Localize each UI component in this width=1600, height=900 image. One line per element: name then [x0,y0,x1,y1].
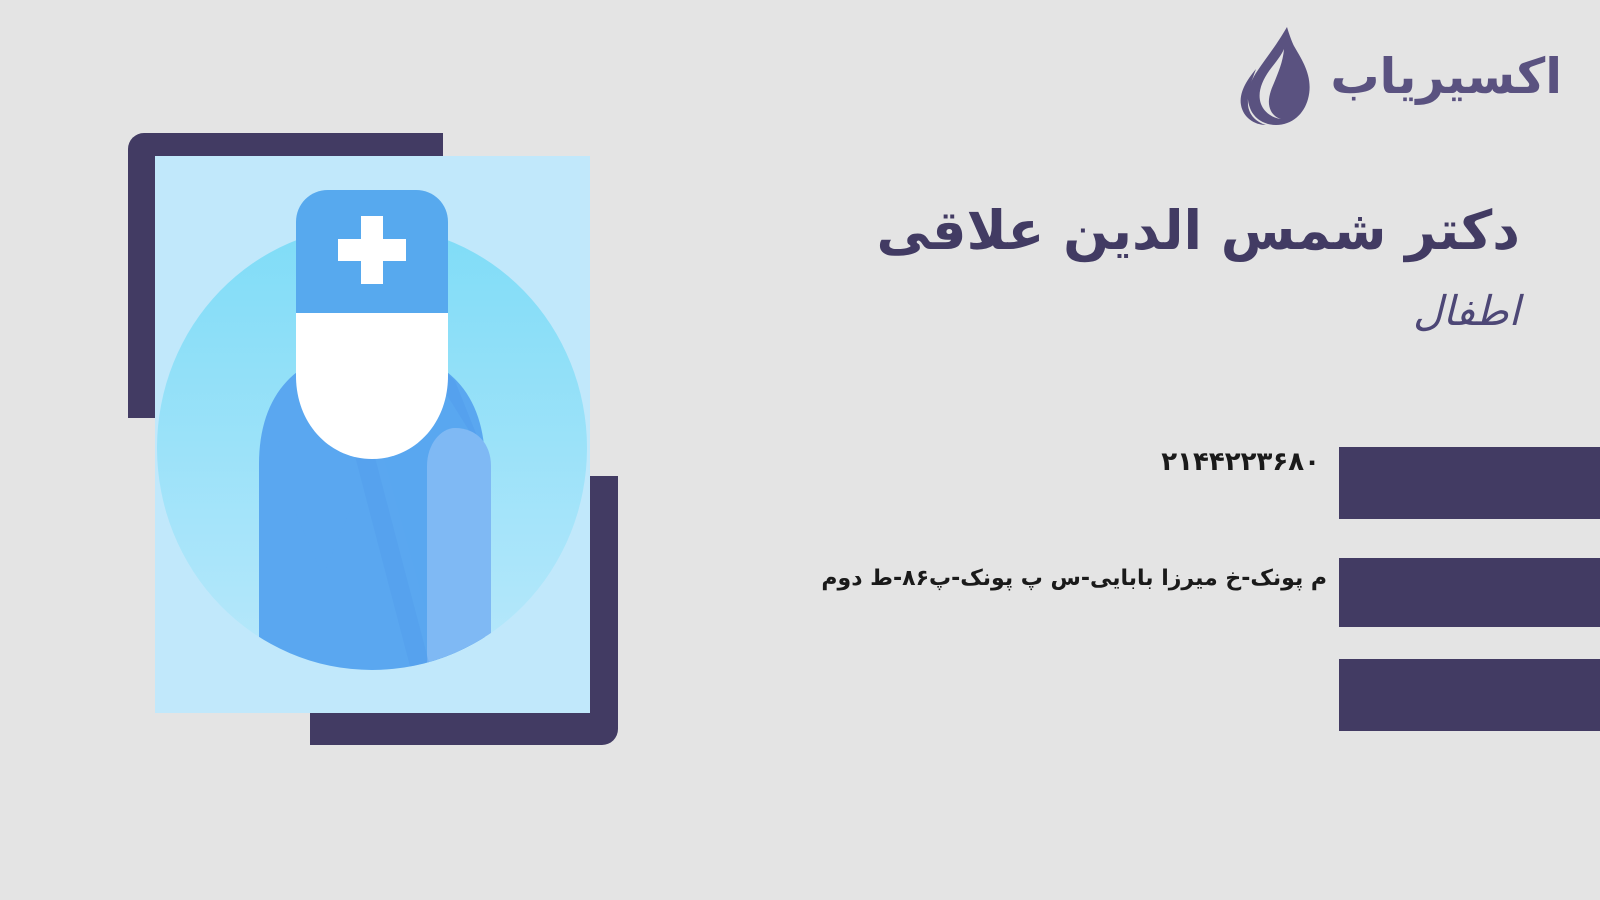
clinic-address: م پونک-خ میرزا بابایی-س پ پونک-پ۸۶-ط دوم [821,566,1327,591]
illustration-photo [155,156,590,713]
avatar-sleeve [427,428,491,713]
doctor-profile-card: اکسیریاب [0,0,1600,900]
doctor-info: دکتر شمس الدین علاقی اطفال [750,196,1520,336]
phone-number[interactable]: ۲۱۴۴۲۲۳۶۸۰ [1161,447,1320,477]
flame-droplet-icon [1232,26,1316,126]
decor-bar-2 [1339,558,1600,627]
decor-bar-3 [1339,659,1600,731]
doctor-illustration [128,133,618,745]
doctor-specialty: اطفال [750,287,1520,336]
decor-bar-1 [1339,447,1600,519]
doctor-avatar-icon [155,156,590,713]
brand-name: اکسیریاب [1330,52,1562,101]
doctor-name: دکتر شمس الدین علاقی [750,196,1520,265]
brand-logo[interactable]: اکسیریاب [1232,26,1562,126]
